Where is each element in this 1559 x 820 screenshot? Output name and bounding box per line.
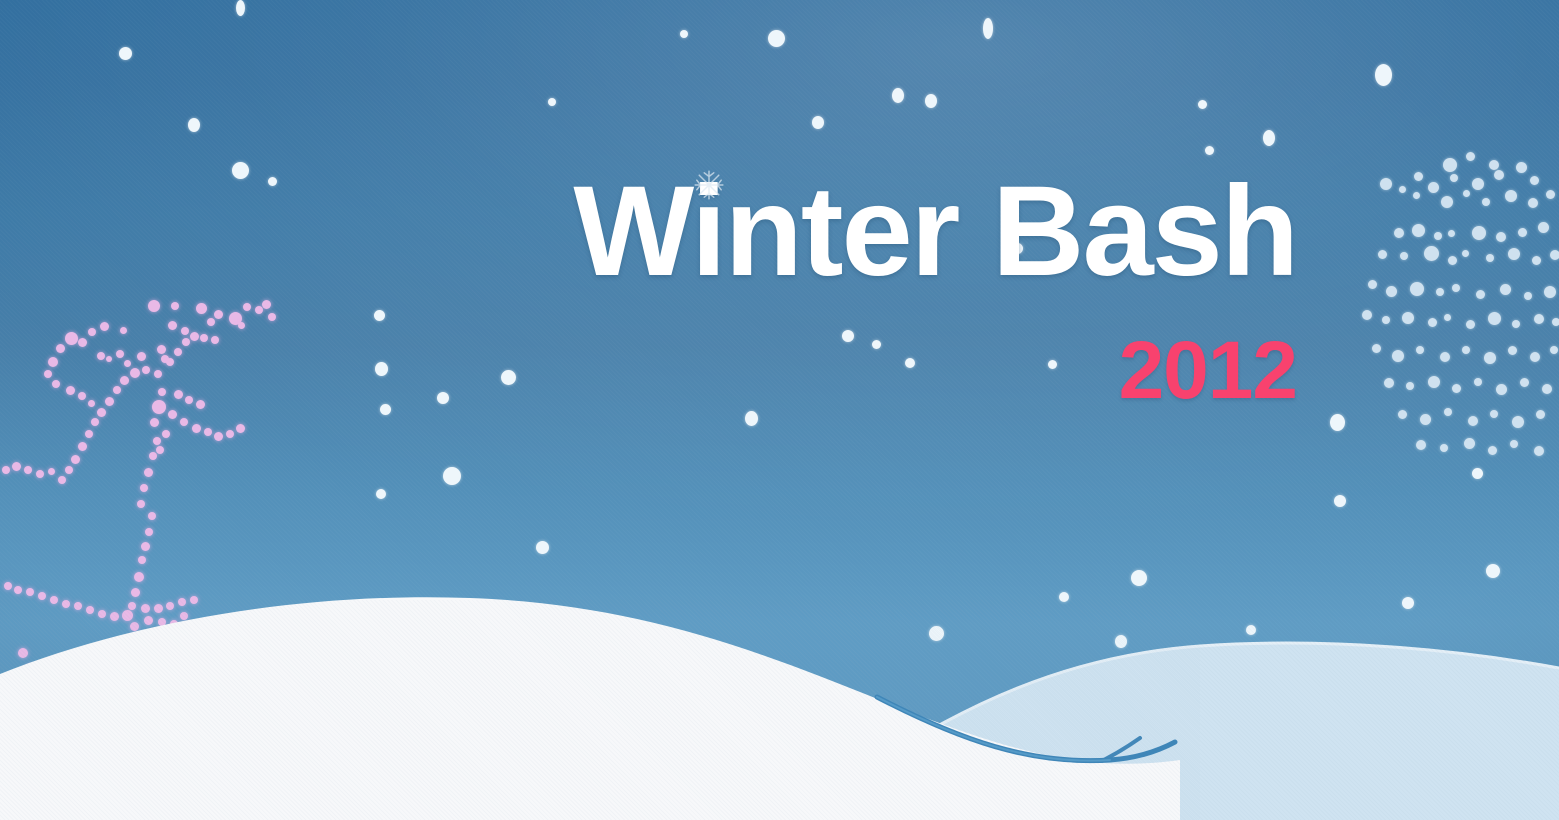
winter-bash-banner: Winter Bash 2012 — [0, 0, 1559, 820]
valley-outline — [0, 560, 1559, 820]
